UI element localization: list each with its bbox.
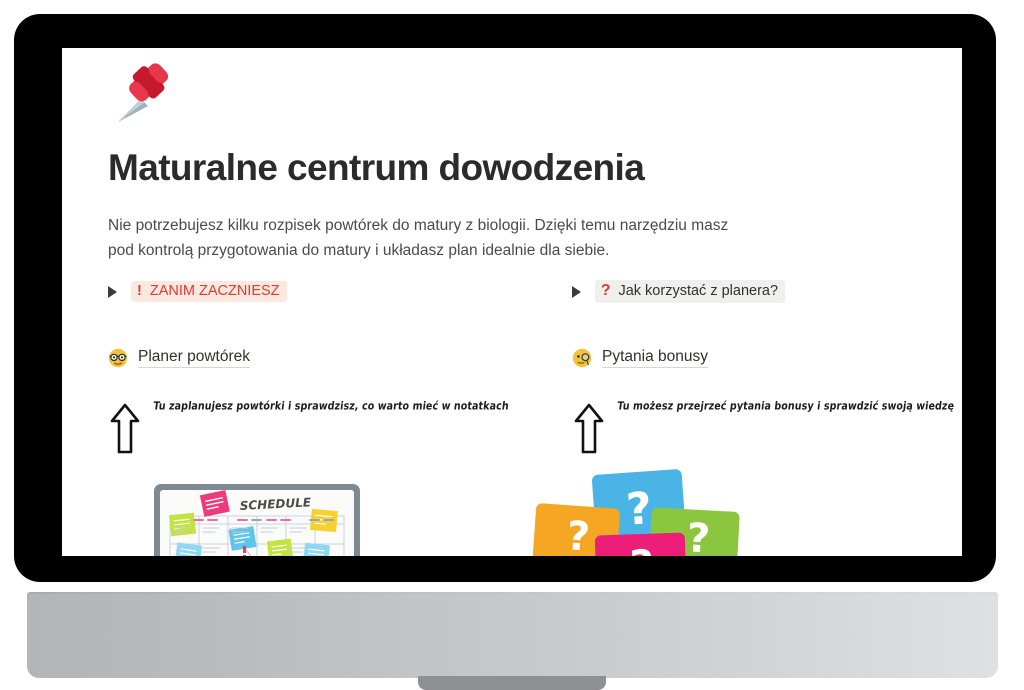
section-planer-powtorek: Planer powtórek Tu zaplanujesz powtórki … xyxy=(108,348,514,456)
pushpin-icon xyxy=(108,52,186,130)
nerd-face-emoji xyxy=(108,348,128,368)
screenshot-stage: Maturalne centrum dowodzenia Nie potrzeb… xyxy=(0,0,1024,690)
question-mark-icon: ? xyxy=(601,282,610,300)
toggle-chip-info[interactable]: ? Jak korzystać z planera? xyxy=(595,280,785,303)
section-heading: Planer powtórek xyxy=(108,348,514,368)
svg-text:?: ? xyxy=(629,541,655,556)
arrow-up-outline-icon xyxy=(108,402,142,456)
arrow-up-outline-icon xyxy=(572,402,606,456)
section-heading: Pytania bonusy xyxy=(572,348,920,368)
section-title: Pytania bonusy xyxy=(602,348,708,368)
triangle-right-icon[interactable] xyxy=(108,286,117,298)
toggle-label: ZANIM ZACZNIESZ xyxy=(150,283,280,299)
triangle-right-icon[interactable] xyxy=(572,286,581,298)
schedule-whiteboard-image: SCHEDULE xyxy=(152,482,362,556)
toggle-label: Jak korzystać z planera? xyxy=(618,283,778,299)
section-columns: Planer powtórek Tu zaplanujesz powtórki … xyxy=(108,348,920,456)
page-lede: Nie potrzebujesz kilku rozpisek powtórek… xyxy=(108,213,758,263)
toggle-zanim-zaczniesz[interactable]: ! ZANIM ZACZNIESZ xyxy=(108,280,514,303)
section-pytania-bonusy: Pytania bonusy Tu możesz przejrzeć pytan… xyxy=(514,348,920,456)
face-with-monocle-emoji xyxy=(572,348,592,368)
laptop-trackpad-notch xyxy=(418,676,606,690)
annotation-row: Tu możesz przejrzeć pytania bonusy i spr… xyxy=(572,396,920,456)
svg-text:?: ? xyxy=(686,515,712,556)
section-title: Planer powtórek xyxy=(138,348,250,368)
annotation-row: Tu zaplanujesz powtórki i sprawdzisz, co… xyxy=(108,396,514,456)
laptop-screen: Maturalne centrum dowodzenia Nie potrzeb… xyxy=(62,48,962,556)
page-content: Maturalne centrum dowodzenia Nie potrzeb… xyxy=(108,148,920,263)
handwritten-annotation: Tu zaplanujesz powtórki i sprawdzisz, co… xyxy=(152,400,509,415)
toggle-chip-warning[interactable]: ! ZANIM ZACZNIESZ xyxy=(131,281,287,302)
svg-text:?: ? xyxy=(625,483,654,536)
exclamation-icon: ! xyxy=(137,283,142,299)
laptop-base xyxy=(27,594,998,678)
toggle-jak-korzystac[interactable]: ? Jak korzystać z planera? xyxy=(514,280,920,303)
handwritten-annotation: Tu możesz przejrzeć pytania bonusy i spr… xyxy=(616,400,955,415)
question-speech-bubbles-image: ? ? ? ? xyxy=(528,468,758,556)
page-title: Maturalne centrum dowodzenia xyxy=(108,148,920,189)
toggle-row-group: ! ZANIM ZACZNIESZ ? Jak korzystać z plan… xyxy=(108,280,920,303)
notion-page: Maturalne centrum dowodzenia Nie potrzeb… xyxy=(62,48,962,556)
svg-text:?: ? xyxy=(565,513,591,556)
